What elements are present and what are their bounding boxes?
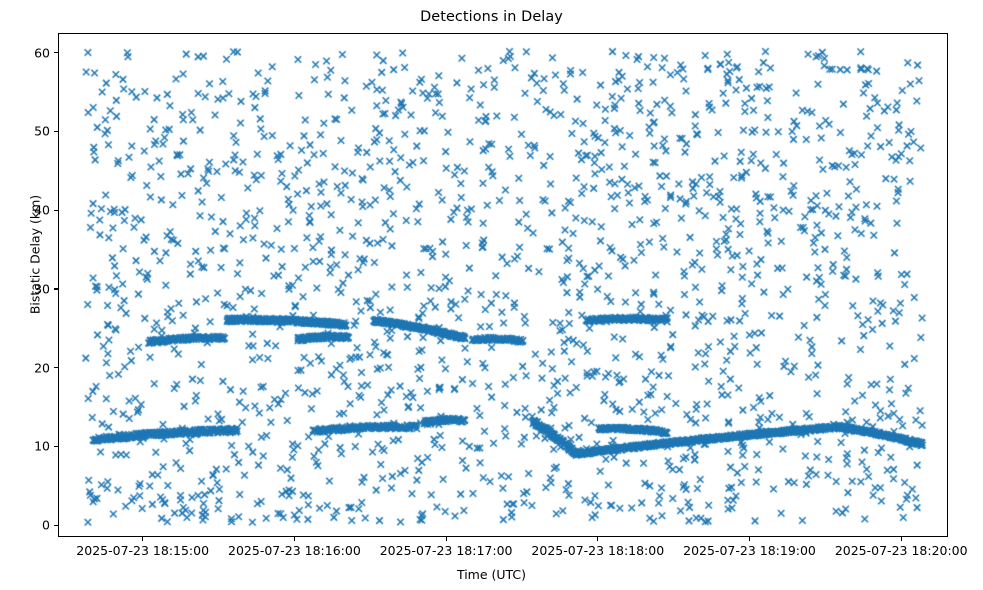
x-tick-mark: [142, 537, 143, 541]
y-axis-label: Bistatic Delay (km): [28, 155, 43, 355]
x-tick-mark: [446, 537, 447, 541]
x-tick-mark: [749, 537, 750, 541]
x-tick-mark: [294, 537, 295, 541]
x-axis-ticks: 2025-07-23 18:15:002025-07-23 18:16:0020…: [0, 0, 983, 590]
x-tick-label: 2025-07-23 18:20:00: [811, 543, 983, 558]
x-axis-label: Time (UTC): [0, 567, 983, 582]
chart-figure: Detections in Delay 0102030405060 2025-0…: [0, 0, 983, 590]
x-tick-mark: [597, 537, 598, 541]
x-tick-mark: [901, 537, 902, 541]
